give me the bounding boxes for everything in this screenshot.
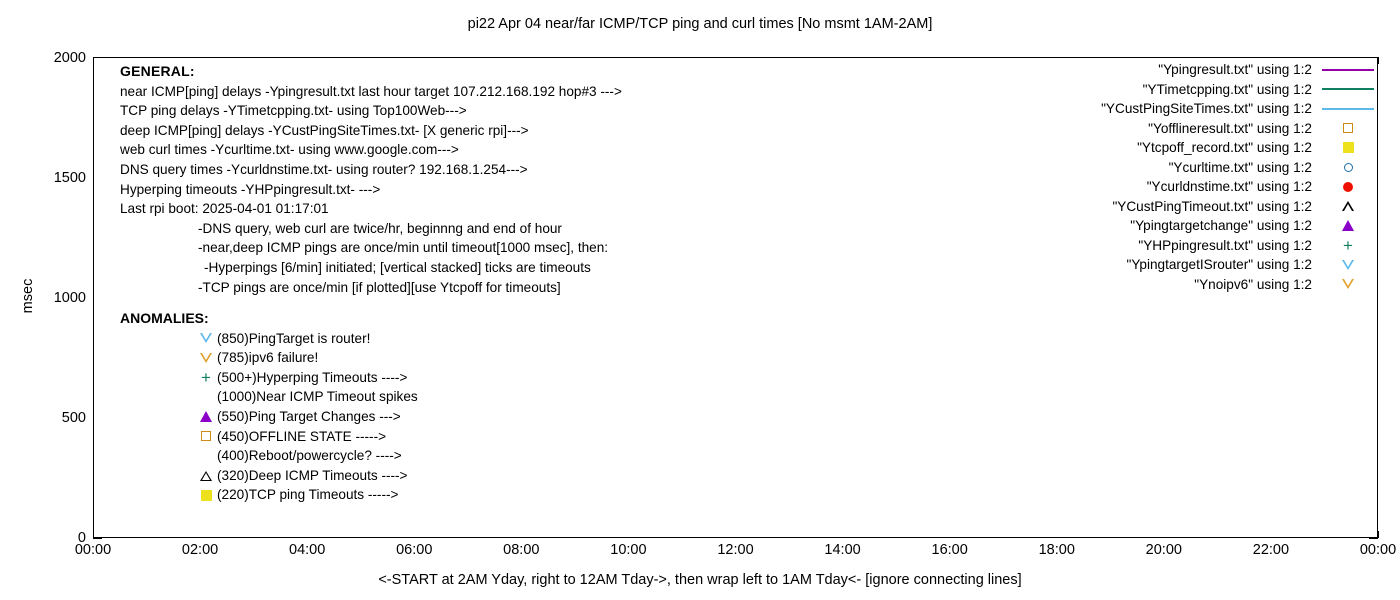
legend-row-5: "Ycurltime.txt" using 1:2	[1101, 158, 1378, 178]
x-axis-caption: <-START at 2AM Yday, right to 12AM Tday-…	[0, 572, 1400, 588]
legend-symbol-triangle-down-open	[1318, 260, 1378, 270]
anomaly-row-1: (785)ipv6 failure!	[120, 348, 418, 368]
anomaly-label-4: (550)Ping Target Changes --->	[217, 407, 401, 427]
x-tick-mark-12	[1378, 531, 1379, 538]
x-tick-label-10: 20:00	[1129, 543, 1199, 558]
legend-symbol-triangle-down-open	[1318, 279, 1378, 289]
square-yellow-filled-icon	[195, 490, 217, 501]
legend-label-1: "YTimetcpping.txt" using 1:2	[1143, 80, 1312, 100]
legend-symbol-circle-filled	[1318, 182, 1378, 192]
anomalies-heading: ANOMALIES:	[120, 309, 418, 329]
legend-row-2: "YCustPingSiteTimes.txt" using 1:2	[1101, 99, 1378, 119]
chart-title: pi22 Apr 04 near/far ICMP/TCP ping and c…	[0, 16, 1400, 32]
legend-symbol-line	[1318, 88, 1378, 90]
legend-label-3: "Yofflineresult.txt" using 1:2	[1148, 119, 1312, 139]
legend-row-11: "Ynoipv6" using 1:2	[1101, 275, 1378, 295]
anomaly-row-6: (400)Reboot/powercycle? ---->	[120, 446, 418, 466]
y-tick-label-2000: 2000	[34, 51, 86, 65]
x-tick-label-6: 12:00	[701, 543, 771, 558]
legend-label-9: "YHPpingresult.txt" using 1:2	[1138, 236, 1312, 256]
legend-row-8: "Ypingtargetchange" using 1:2	[1101, 216, 1378, 236]
legend-symbol-triangle-up-open	[1318, 201, 1378, 211]
anomaly-row-4: (550)Ping Target Changes --->	[120, 407, 418, 427]
general-note-1: -near,deep ICMP pings are once/min until…	[120, 238, 622, 258]
legend-label-7: "YCustPingTimeout.txt" using 1:2	[1112, 197, 1312, 217]
anomaly-row-8: (220)TCP ping Timeouts ----->	[120, 485, 418, 505]
triangle-up-purple-icon	[195, 411, 217, 422]
anomaly-row-3: (1000)Near ICMP Timeout spikes	[120, 387, 418, 407]
legend-symbol-line	[1318, 108, 1378, 110]
anomaly-label-2: (500+)Hyperping Timeouts ---->	[217, 368, 407, 388]
x-tick-label-1: 02:00	[165, 543, 235, 558]
legend-row-6: "Ycurldnstime.txt" using 1:2	[1101, 177, 1378, 197]
general-line-6: Last rpi boot: 2025-04-01 01:17:01	[120, 199, 622, 219]
legend-row-0: "Ypingresult.txt" using 1:2	[1101, 60, 1378, 80]
legend-label-0: "Ypingresult.txt" using 1:2	[1158, 60, 1312, 80]
general-note-0: -DNS query, web curl are twice/hr, begin…	[120, 219, 622, 239]
general-line-2: deep ICMP[ping] delays -YCustPingSiteTim…	[120, 121, 622, 141]
legend-symbol-square-filled	[1318, 142, 1378, 153]
general-note-2: -Hyperpings [6/min] initiated; [vertical…	[120, 258, 622, 278]
general-heading: GENERAL:	[120, 62, 622, 82]
legend-symbol-line	[1318, 69, 1378, 71]
triangle-down-orange-icon	[195, 353, 217, 363]
triangle-up-black-open-icon	[195, 471, 217, 481]
y-tick-label-500: 500	[34, 411, 86, 425]
x-tick-mark-top-12	[1378, 57, 1379, 64]
y-tick-mark-right-0	[1369, 538, 1378, 539]
anomaly-row-2: + (500+)Hyperping Timeouts ---->	[120, 368, 418, 388]
legend-label-11: "Ynoipv6" using 1:2	[1194, 275, 1312, 295]
anomaly-label-0: (850)PingTarget is router!	[217, 329, 370, 349]
square-orange-open-icon	[195, 431, 217, 441]
anomaly-label-7: (320)Deep ICMP Timeouts ---->	[217, 466, 408, 486]
anomaly-row-7: (320)Deep ICMP Timeouts ---->	[120, 466, 418, 486]
x-tick-label-11: 22:00	[1236, 543, 1306, 558]
legend-row-4: "Ytcpoff_record.txt" using 1:2	[1101, 138, 1378, 158]
legend-symbol-circle-open	[1318, 163, 1378, 172]
x-tick-label-5: 10:00	[593, 543, 663, 558]
anomaly-label-5: (450)OFFLINE STATE ----->	[217, 427, 386, 447]
general-note-3: -TCP pings are once/min [if plotted][use…	[120, 278, 622, 298]
x-tick-label-4: 08:00	[486, 543, 556, 558]
general-line-4: DNS query times -Ycurldnstime.txt- using…	[120, 160, 622, 180]
legend-symbol-square-open	[1318, 123, 1378, 133]
general-line-5: Hyperping timeouts -YHPpingresult.txt- -…	[120, 180, 622, 200]
general-line-1: TCP ping delays -YTimetcpping.txt- using…	[120, 101, 622, 121]
legend-symbol-plus: +	[1318, 240, 1378, 251]
legend-label-6: "Ycurldnstime.txt" using 1:2	[1147, 177, 1312, 197]
legend-row-9: "YHPpingresult.txt" using 1:2+	[1101, 236, 1378, 256]
plus-green-icon: +	[195, 372, 217, 383]
y-tick-label-1500: 1500	[34, 171, 86, 185]
anomalies-block: ANOMALIES: (850)PingTarget is router! (7…	[120, 309, 418, 505]
anomaly-label-8: (220)TCP ping Timeouts ----->	[217, 485, 398, 505]
legend-row-1: "YTimetcpping.txt" using 1:2	[1101, 80, 1378, 100]
x-tick-label-0: 00:00	[58, 543, 128, 558]
legend-label-4: "Ytcpoff_record.txt" using 1:2	[1137, 138, 1312, 158]
y-tick-label-1000: 1000	[34, 291, 86, 305]
general-line-3: web curl times -Ycurltime.txt- using www…	[120, 140, 622, 160]
y-tick-mark-0	[93, 538, 102, 539]
legend-label-8: "Ypingtargetchange" using 1:2	[1130, 216, 1312, 236]
x-tick-label-7: 14:00	[808, 543, 878, 558]
anomaly-label-3: (1000)Near ICMP Timeout spikes	[217, 387, 418, 407]
legend: "Ypingresult.txt" using 1:2"YTimetcpping…	[1101, 60, 1378, 294]
x-tick-label-2: 04:00	[272, 543, 342, 558]
anomaly-row-0: (850)PingTarget is router!	[120, 329, 418, 349]
legend-row-10: "YpingtargetISrouter" using 1:2	[1101, 255, 1378, 275]
general-line-0: near ICMP[ping] delays -Ypingresult.txt …	[120, 82, 622, 102]
legend-symbol-triangle-up-filled	[1318, 220, 1378, 231]
x-tick-label-12: 00:00	[1343, 543, 1400, 558]
x-tick-label-9: 18:00	[1022, 543, 1092, 558]
legend-row-3: "Yofflineresult.txt" using 1:2	[1101, 119, 1378, 139]
x-tick-label-3: 06:00	[379, 543, 449, 558]
triangle-down-blue-icon	[195, 333, 217, 343]
anomaly-label-1: (785)ipv6 failure!	[217, 348, 318, 368]
x-tick-label-8: 16:00	[915, 543, 985, 558]
anomaly-row-5: (450)OFFLINE STATE ----->	[120, 427, 418, 447]
legend-label-5: "Ycurltime.txt" using 1:2	[1169, 158, 1312, 178]
anomaly-label-6: (400)Reboot/powercycle? ---->	[217, 446, 402, 466]
legend-label-10: "YpingtargetISrouter" using 1:2	[1127, 255, 1312, 275]
legend-row-7: "YCustPingTimeout.txt" using 1:2	[1101, 197, 1378, 217]
general-info-block: GENERAL: near ICMP[ping] delays -Ypingre…	[120, 62, 622, 297]
legend-label-2: "YCustPingSiteTimes.txt" using 1:2	[1101, 99, 1312, 119]
